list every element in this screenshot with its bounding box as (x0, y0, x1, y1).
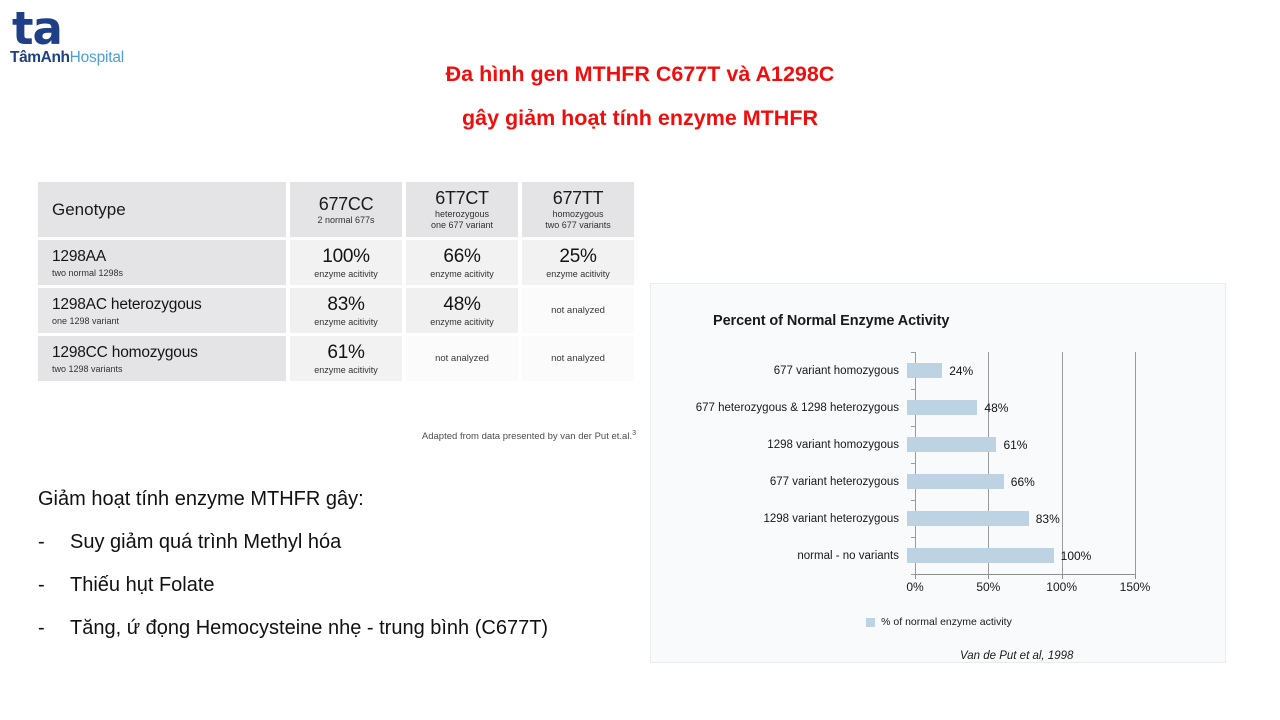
chart-citation: Van de Put et al, 1998 (960, 650, 1073, 662)
chart-bar-value: 61% (1003, 438, 1027, 452)
chart-bar (907, 363, 942, 378)
col-head-sub2: one 677 variant (431, 220, 493, 231)
list-item: - Tăng, ứ đọng Hemocysteine nhẹ - trung … (38, 613, 658, 643)
row-label-main: 1298AA (52, 248, 106, 266)
title-line-2: gây giảm hoạt tính enzyme MTHFR (250, 96, 1030, 140)
table-cell-value: 66% enzyme acitivity (406, 240, 518, 285)
chart-bar-value: 24% (949, 364, 973, 378)
chart-category-tick (911, 500, 915, 501)
col-head-main: 677CC (319, 194, 374, 215)
table-cell-value: 25% enzyme acitivity (522, 240, 634, 285)
x-tick-label: 150% (1120, 580, 1151, 594)
cell-value: 48% (443, 294, 480, 316)
list-item: - Thiếu hụt Folate (38, 570, 658, 600)
chart-legend: % of normal enzyme activity (651, 616, 1227, 628)
table-header-genotype: Genotype (38, 182, 286, 237)
chart-bar-value: 83% (1036, 512, 1060, 526)
row-label-main: 1298CC homozygous (52, 344, 198, 362)
x-tick-label: 50% (976, 580, 1000, 594)
chart-bar-track: 83% (907, 500, 1060, 537)
cell-value: 61% (327, 342, 364, 364)
logo-word-tamanh: TâmAnh (10, 49, 70, 66)
title-line-1: Đa hình gen MTHFR C677T và A1298C (250, 52, 1030, 96)
chart-bar-track: 48% (907, 389, 1008, 426)
table-row: 1298AA two normal 1298s 100% enzyme acit… (38, 240, 636, 285)
cell-note: enzyme acitivity (314, 317, 378, 327)
chart-bar-row: 1298 variant homozygous61% (695, 426, 1195, 463)
chart-bar-row: 677 variant homozygous24% (695, 352, 1195, 389)
row-label-cell: 1298CC homozygous two 1298 variants (38, 336, 286, 381)
col-head-sub1: heterozygous (435, 209, 489, 220)
chart-category-tick (911, 352, 915, 353)
chart-category-tick (911, 537, 915, 538)
chart-category-label: 1298 variant heterozygous (695, 513, 907, 525)
cell-value: 66% (443, 246, 480, 268)
chart-bar-row: normal - no variants100% (695, 537, 1195, 574)
row-label-sub: two normal 1298s (52, 268, 123, 278)
cell-note: enzyme acitivity (430, 269, 494, 279)
cell-value: not analyzed (551, 305, 605, 316)
chart-bar-track: 24% (907, 352, 973, 389)
cell-value: not analyzed (551, 353, 605, 364)
chart-bar (907, 437, 996, 452)
x-axis-ticks: 0%50%100%150% (695, 580, 1195, 598)
table-cell-not-analyzed: not analyzed (406, 336, 518, 381)
row-label-cell: 1298AC heterozygous one 1298 variant (38, 288, 286, 333)
chart-category-tick (911, 426, 915, 427)
x-tick-label: 100% (1046, 580, 1077, 594)
bullet-dash: - (38, 527, 70, 557)
logo-word-hospital: Hospital (70, 49, 124, 66)
slide-title: Đa hình gen MTHFR C677T và A1298C gây gi… (250, 52, 1030, 140)
chart-category-label: 677 variant heterozygous (695, 476, 907, 488)
table-cell-not-analyzed: not analyzed (522, 336, 634, 381)
caption-superscript: 3 (632, 430, 636, 437)
col-head-sub1: homozygous (552, 209, 603, 220)
x-tick-label: 0% (906, 580, 923, 594)
chart-category-tick (911, 389, 915, 390)
chart-title: Percent of Normal Enzyme Activity (713, 313, 949, 329)
chart-category-label: 1298 variant homozygous (695, 439, 907, 451)
x-tick-mark (915, 574, 916, 579)
x-tick-mark (988, 574, 989, 579)
chart-bar (907, 474, 1004, 489)
cell-note: enzyme acitivity (314, 269, 378, 279)
col-head-main: 6T7CT (435, 188, 489, 209)
table-row: 1298AC heterozygous one 1298 variant 83%… (38, 288, 636, 333)
x-tick-mark (1135, 574, 1136, 579)
table-cell-value: 100% enzyme acitivity (290, 240, 402, 285)
table-header-col-677tt: 677TT homozygous two 677 variants (522, 182, 634, 237)
cell-value: not analyzed (435, 353, 489, 364)
bullet-text: Suy giảm quá trình Methyl hóa (70, 527, 341, 557)
chart-bar-track: 61% (907, 426, 1027, 463)
cell-note: enzyme acitivity (546, 269, 610, 279)
chart-plot-area: 677 variant homozygous24%677 heterozygou… (695, 352, 1195, 592)
genotype-table: Genotype 677CC 2 normal 677s 6T7CT heter… (38, 182, 636, 384)
chart-bar-row: 677 heterozygous & 1298 heterozygous48% (695, 389, 1195, 426)
brand-logo: ta TâmAnhHospital (8, 8, 138, 70)
cell-value: 25% (559, 246, 596, 268)
bullet-text: Tăng, ứ đọng Hemocysteine nhẹ - trung bì… (70, 613, 548, 643)
col-head-sub1: 2 normal 677s (317, 215, 374, 226)
row-label-sub: two 1298 variants (52, 364, 123, 374)
table-cell-not-analyzed: not analyzed (522, 288, 634, 333)
table-header-col-677cc: 677CC 2 normal 677s (290, 182, 402, 237)
table-cell-value: 83% enzyme acitivity (290, 288, 402, 333)
chart-bar-value: 48% (984, 401, 1008, 415)
table-cell-value: 48% enzyme acitivity (406, 288, 518, 333)
table-cell-value: 61% enzyme acitivity (290, 336, 402, 381)
chart-panel: Percent of Normal Enzyme Activity 677 va… (650, 283, 1226, 663)
cell-note: enzyme acitivity (430, 317, 494, 327)
table-header-col-677ct: 6T7CT heterozygous one 677 variant (406, 182, 518, 237)
chart-bar-value: 100% (1061, 549, 1092, 563)
legend-label: % of normal enzyme activity (881, 616, 1012, 628)
table-header-row: Genotype 677CC 2 normal 677s 6T7CT heter… (38, 182, 636, 237)
cell-note: enzyme acitivity (314, 365, 378, 375)
chart-category-label: normal - no variants (695, 550, 907, 562)
table-row: 1298CC homozygous two 1298 variants 61% … (38, 336, 636, 381)
caption-text: Adapted from data presented by van der P… (422, 431, 632, 442)
x-tick-mark (1062, 574, 1063, 579)
chart-bar (907, 548, 1054, 563)
logo-mark: ta (8, 8, 138, 50)
col-head-main: 677TT (553, 188, 604, 209)
cell-value: 100% (322, 246, 369, 268)
cell-value: 83% (327, 294, 364, 316)
table-source-caption: Adapted from data presented by van der P… (330, 430, 636, 442)
bullet-intro: Giảm hoạt tính enzyme MTHFR gây: (38, 484, 658, 514)
chart-category-tick (911, 463, 915, 464)
bullet-dash: - (38, 613, 70, 643)
chart-bar (907, 511, 1029, 526)
chart-bar-track: 66% (907, 463, 1035, 500)
bullet-text: Thiếu hụt Folate (70, 570, 215, 600)
chart-bar-track: 100% (907, 537, 1091, 574)
table-header-label: Genotype (52, 200, 126, 220)
x-axis-line (915, 574, 1135, 575)
list-item: - Suy giảm quá trình Methyl hóa (38, 527, 658, 557)
chart-bar-row: 677 variant heterozygous66% (695, 463, 1195, 500)
chart-category-label: 677 heterozygous & 1298 heterozygous (695, 402, 907, 414)
bullet-dash: - (38, 570, 70, 600)
row-label-sub: one 1298 variant (52, 316, 119, 326)
chart-category-label: 677 variant homozygous (695, 365, 907, 377)
bullet-list: Giảm hoạt tính enzyme MTHFR gây: - Suy g… (38, 484, 658, 656)
logo-wordmark: TâmAnhHospital (8, 50, 138, 66)
chart-bar-row: 1298 variant heterozygous83% (695, 500, 1195, 537)
chart-bar-value: 66% (1011, 475, 1035, 489)
legend-swatch-icon (866, 618, 875, 627)
row-label-main: 1298AC heterozygous (52, 296, 202, 314)
chart-bar (907, 400, 977, 415)
row-label-cell: 1298AA two normal 1298s (38, 240, 286, 285)
col-head-sub2: two 677 variants (545, 220, 611, 231)
